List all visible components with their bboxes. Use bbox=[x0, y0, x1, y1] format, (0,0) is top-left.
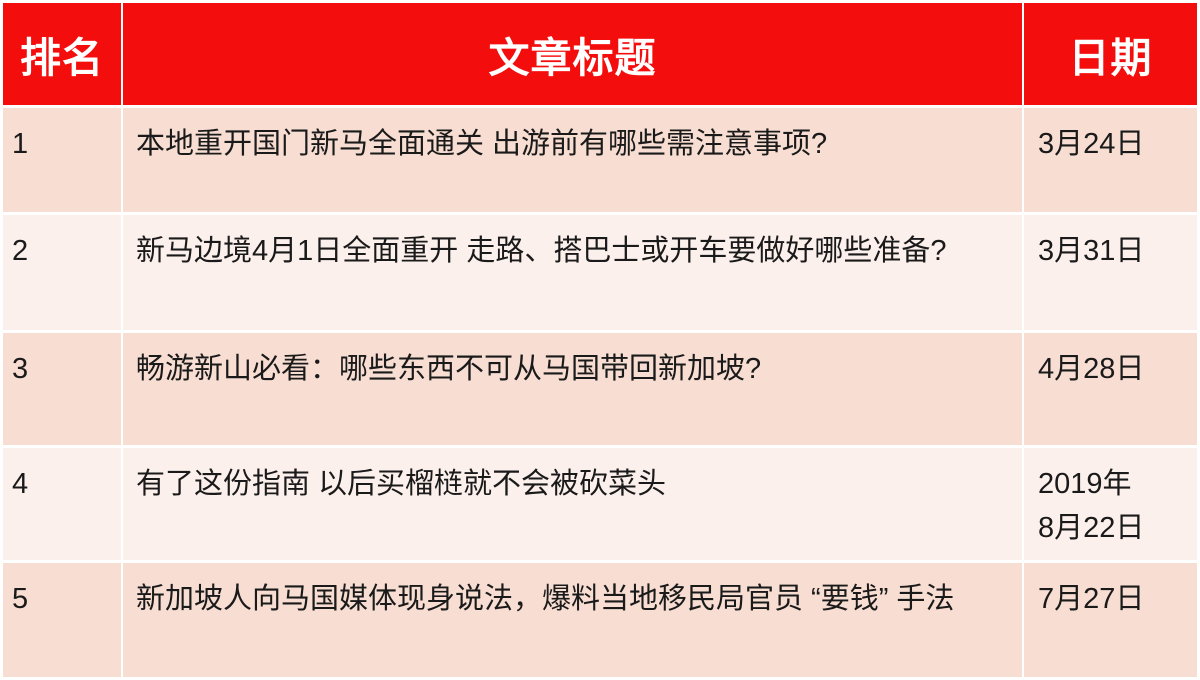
table-row[interactable]: 1 本地重开国门新马全面通关 出游前有哪些需注意事项? 3月24日 bbox=[3, 105, 1197, 212]
date-cell: 4月28日 bbox=[1022, 333, 1197, 445]
table-body: 1 本地重开国门新马全面通关 出游前有哪些需注意事项? 3月24日 2 新马边境… bbox=[0, 105, 1200, 680]
table-row[interactable]: 5 新加坡人向马国媒体现身说法，爆料当地移民局官员 “要钱” 手法 7月27日 bbox=[3, 560, 1197, 677]
rank-cell: 3 bbox=[3, 333, 121, 445]
date-cell: 3月24日 bbox=[1022, 108, 1197, 212]
title-cell[interactable]: 有了这份指南 以后买榴梿就不会被砍菜头 bbox=[121, 448, 1022, 560]
title-cell[interactable]: 新马边境4月1日全面重开 走路、搭巴士或开车要做好哪些准备? bbox=[121, 215, 1022, 330]
article-ranking-table: 排名 文章标题 日期 1 本地重开国门新马全面通关 出游前有哪些需注意事项? 3… bbox=[0, 0, 1200, 675]
column-header-rank: 排名 bbox=[3, 3, 121, 105]
title-cell[interactable]: 畅游新山必看：哪些东西不可从马国带回新加坡? bbox=[121, 333, 1022, 445]
title-cell[interactable]: 本地重开国门新马全面通关 出游前有哪些需注意事项? bbox=[121, 108, 1022, 212]
title-cell[interactable]: 新加坡人向马国媒体现身说法，爆料当地移民局官员 “要钱” 手法 bbox=[121, 563, 1022, 677]
date-cell: 7月27日 bbox=[1022, 563, 1197, 677]
rank-cell: 2 bbox=[3, 215, 121, 330]
table-header-row: 排名 文章标题 日期 bbox=[0, 0, 1200, 105]
rank-cell: 1 bbox=[3, 108, 121, 212]
date-cell: 3月31日 bbox=[1022, 215, 1197, 330]
table-row[interactable]: 4 有了这份指南 以后买榴梿就不会被砍菜头 2019年 8月22日 bbox=[3, 445, 1197, 560]
date-cell: 2019年 8月22日 bbox=[1022, 448, 1197, 560]
column-header-title: 文章标题 bbox=[121, 3, 1022, 105]
table-row[interactable]: 3 畅游新山必看：哪些东西不可从马国带回新加坡? 4月28日 bbox=[3, 330, 1197, 445]
table-row[interactable]: 2 新马边境4月1日全面重开 走路、搭巴士或开车要做好哪些准备? 3月31日 bbox=[3, 212, 1197, 330]
rank-cell: 4 bbox=[3, 448, 121, 560]
rank-cell: 5 bbox=[3, 563, 121, 677]
column-header-date: 日期 bbox=[1022, 3, 1197, 105]
